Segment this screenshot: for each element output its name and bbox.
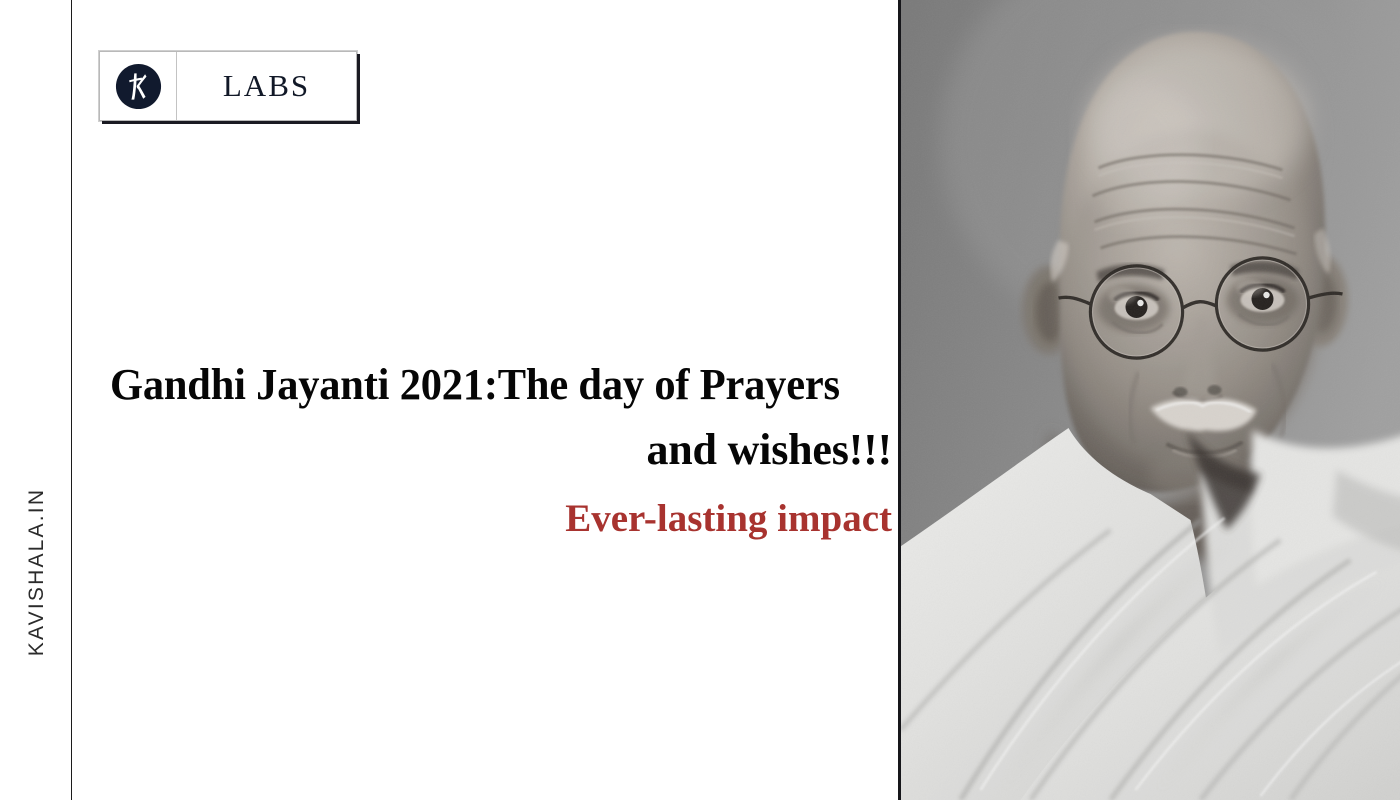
brand-label: LABS — [223, 68, 310, 104]
left-watermark-rail: KAVISHALA.IN — [0, 0, 72, 800]
brand-badge[interactable]: LABS — [99, 51, 357, 121]
portrait-photo-panel — [898, 0, 1400, 800]
page-title: Gandhi Jayanti 2021:The day of Prayers a… — [110, 352, 892, 482]
site-watermark: KAVISHALA.IN — [25, 472, 49, 672]
page-subtitle: Ever-lasting impact — [110, 491, 892, 548]
rail-divider-line — [71, 0, 72, 800]
page-title-line-1: Gandhi Jayanti 2021:The day of Prayers — [110, 352, 865, 417]
brand-logo-cell — [100, 52, 177, 120]
brand-label-cell: LABS — [177, 52, 356, 120]
gandhi-portrait-image — [901, 0, 1400, 800]
headline-block: Gandhi Jayanti 2021:The day of Prayers a… — [110, 352, 892, 548]
poster-canvas: KAVISHALA.IN LABS Gandhi Jayanti 2021:Th… — [0, 0, 1400, 800]
kavishala-k-monogram-icon — [115, 63, 162, 110]
page-title-line-2: and wishes!!! — [110, 417, 892, 482]
